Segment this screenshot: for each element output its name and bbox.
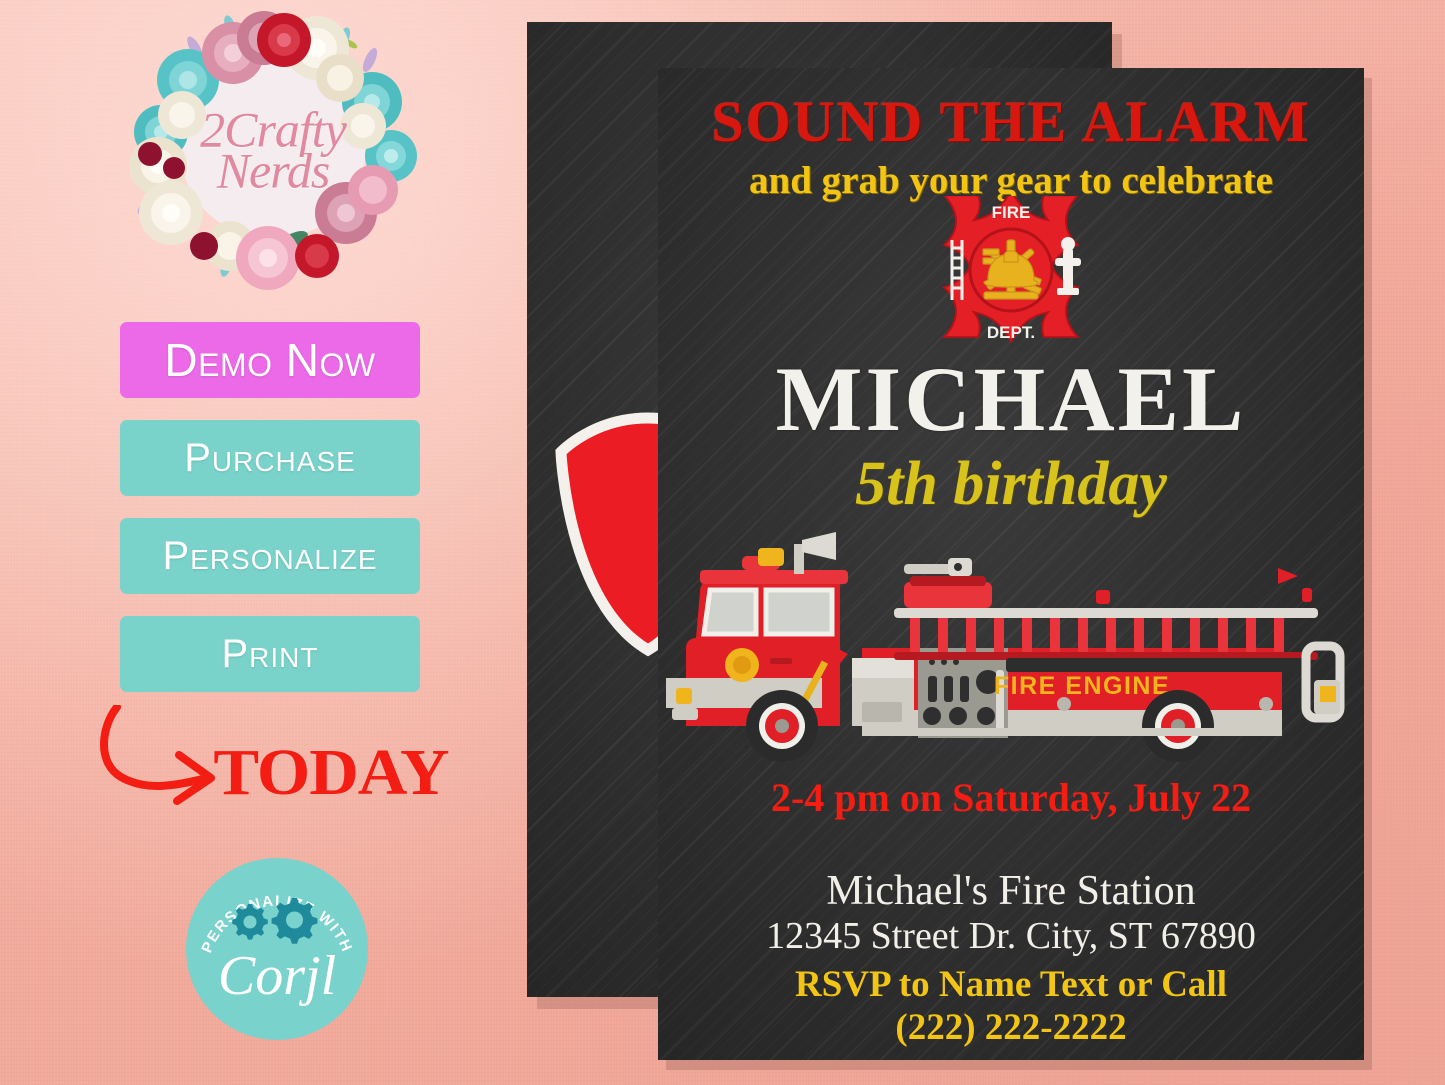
venue-address-text: 12345 Street Dr. City, ST 67890	[658, 913, 1364, 960]
personalize-label: Personalize	[162, 534, 377, 579]
logo-wordmark: 2Crafty Nerds	[158, 106, 388, 195]
invitation-front-card[interactable]: SOUND THE ALARM and grab your gear to ce…	[658, 68, 1364, 1060]
print-label: Print	[221, 632, 318, 677]
fire-engine-label: FIRE ENGINE	[994, 672, 1170, 700]
fire-badge-top-text: FIRE	[992, 203, 1031, 222]
fire-engine-illustration: FIRE ENGINE	[666, 530, 1356, 762]
corjl-wordmark: Corjl	[186, 948, 368, 1004]
age-line-text: 5th birthday	[658, 453, 1364, 515]
fire-badge-bottom-text: DEPT.	[987, 323, 1035, 342]
rsvp-phone: (222) 222-2222	[658, 1006, 1364, 1049]
venue-name-text: Michael's Fire Station	[658, 865, 1364, 917]
rsvp-line-1: RSVP to Name Text or Call	[658, 963, 1364, 1006]
event-time-text: 2-4 pm on Saturday, July 22	[658, 774, 1364, 821]
fire-dept-badge-icon: FIRE DEPT.	[926, 196, 1096, 344]
purchase-label: Purchase	[184, 436, 356, 481]
demo-now-label: Demo Now	[164, 333, 375, 387]
logo-line-2: Nerds	[158, 148, 388, 196]
gears-icon	[226, 896, 326, 944]
demo-now-button[interactable]: Demo Now	[120, 322, 420, 398]
corjl-badge: PERSONALIZE WITH Corjl	[186, 858, 368, 1040]
curved-arrow-icon	[95, 705, 225, 815]
today-text: TODAY	[213, 740, 452, 806]
child-name-text: MICHAEL	[658, 353, 1364, 445]
left-promo-panel: 2Crafty Nerds Demo Now Purchase Personal…	[0, 0, 510, 1085]
purchase-button[interactable]: Purchase	[120, 420, 420, 496]
brand-logo: 2Crafty Nerds	[108, 8, 438, 293]
personalize-button[interactable]: Personalize	[120, 518, 420, 594]
invitation-headline: SOUND THE ALARM	[658, 88, 1364, 155]
print-button[interactable]: Print	[120, 616, 420, 692]
